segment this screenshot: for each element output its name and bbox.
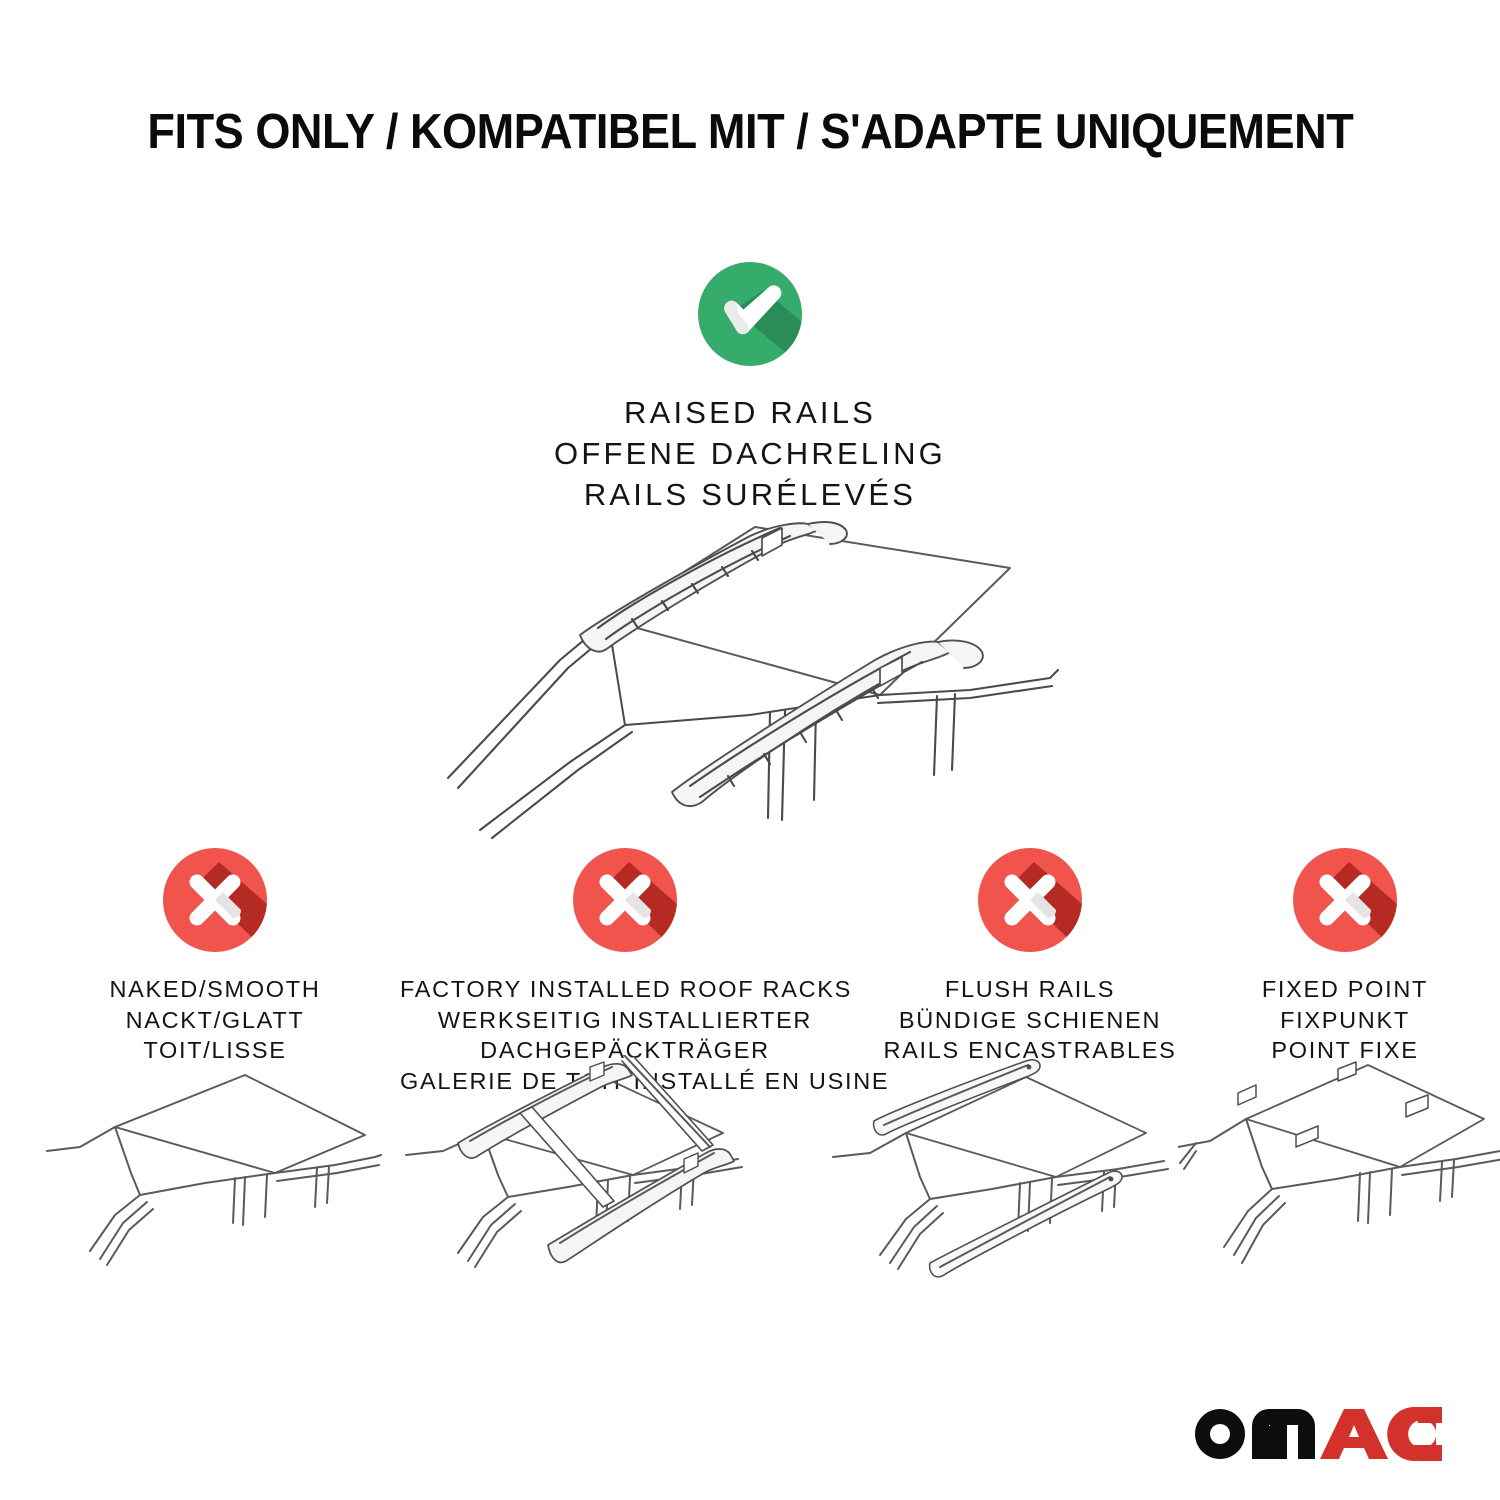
cross-glyph bbox=[1293, 848, 1397, 952]
incompatible-caption: FLUSH RAILS BÜNDIGE SCHIENEN RAILS ENCAS… bbox=[860, 974, 1200, 1066]
incompatible-item-naked-smooth: NAKED/SMOOTH NACKT/GLATT TOIT/LISSE bbox=[45, 848, 385, 1066]
caption-line-en: FIXED POINT bbox=[1205, 974, 1485, 1005]
caption-line-de: BÜNDIGE SCHIENEN bbox=[860, 1005, 1200, 1036]
incompatible-caption: NAKED/SMOOTH NACKT/GLATT TOIT/LISSE bbox=[45, 974, 385, 1066]
compatible-label-de: OFFENE DACHRELING bbox=[0, 433, 1500, 474]
caption-line-en: NAKED/SMOOTH bbox=[45, 974, 385, 1005]
compatible-label-en: RAISED RAILS bbox=[0, 392, 1500, 433]
caption-line-en: FLUSH RAILS bbox=[860, 974, 1200, 1005]
caption-line-de-1: WERKSEITIG INSTALLIERTER bbox=[400, 1005, 850, 1036]
check-glyph bbox=[698, 262, 802, 366]
caption-line-en: FACTORY INSTALLED ROOF RACKS bbox=[400, 974, 850, 1005]
flush-rails-roof-illustration bbox=[828, 1055, 1198, 1295]
page-header: FITS ONLY / KOMPATIBEL MIT / S'ADAPTE UN… bbox=[0, 104, 1500, 160]
omac-logo bbox=[1192, 1404, 1442, 1462]
cross-circle-icon bbox=[978, 848, 1082, 952]
factory-roof-rack-illustration bbox=[398, 1055, 758, 1295]
incompatible-item-flush-rails: FLUSH RAILS BÜNDIGE SCHIENEN RAILS ENCAS… bbox=[860, 848, 1200, 1066]
page-title: FITS ONLY / KOMPATIBEL MIT / S'ADAPTE UN… bbox=[147, 104, 1353, 160]
cross-circle-icon bbox=[1293, 848, 1397, 952]
caption-line-de: FIXPUNKT bbox=[1205, 1005, 1485, 1036]
cross-circle-icon bbox=[573, 848, 677, 952]
caption-line-de: NACKT/GLATT bbox=[45, 1005, 385, 1036]
cross-glyph bbox=[978, 848, 1082, 952]
cross-circle-icon bbox=[163, 848, 267, 952]
cross-glyph bbox=[163, 848, 267, 952]
raised-rails-roof-illustration bbox=[410, 500, 1100, 840]
roof-illustrations-row bbox=[0, 1055, 1500, 1305]
fixed-point-roof-illustration bbox=[1178, 1055, 1500, 1295]
check-circle-icon bbox=[698, 262, 802, 366]
compatible-section: RAISED RAILS OFFENE DACHRELING RAILS SUR… bbox=[0, 262, 1500, 516]
omac-logo-mark bbox=[1192, 1404, 1442, 1462]
compatible-labels: RAISED RAILS OFFENE DACHRELING RAILS SUR… bbox=[0, 392, 1500, 516]
incompatible-item-fixed-point: FIXED POINT FIXPUNKT POINT FIXE bbox=[1205, 848, 1485, 1066]
incompatible-caption: FIXED POINT FIXPUNKT POINT FIXE bbox=[1205, 974, 1485, 1066]
cross-glyph bbox=[573, 848, 677, 952]
naked-smooth-roof-illustration bbox=[45, 1055, 395, 1295]
